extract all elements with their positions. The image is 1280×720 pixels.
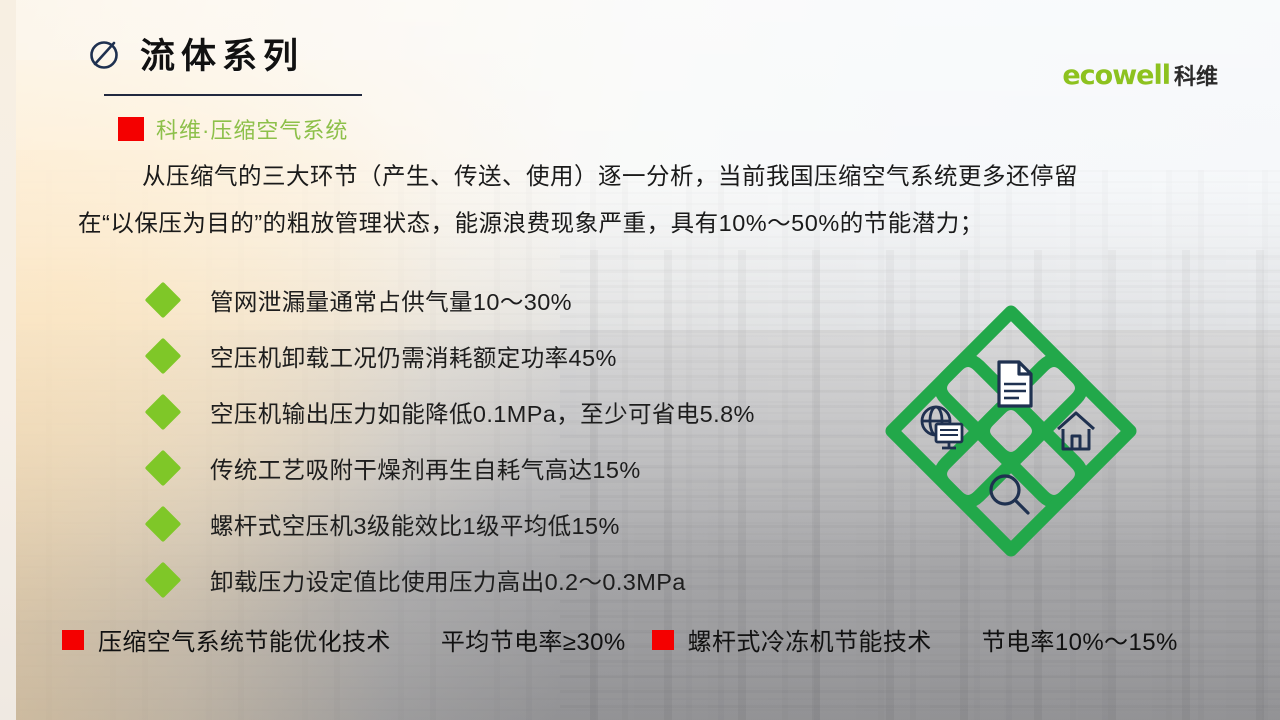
green-diamond-bullet-icon (145, 506, 182, 543)
list-item-label: 螺杆式空压机3级能效比1级平均低15% (210, 507, 620, 541)
list-item: 螺杆式空压机3级能效比1级平均低15% (150, 496, 755, 552)
slide-canvas: 流体系列 ecowell 科维 科维·压缩空气系统 从压缩气的三大环节（产生、传… (0, 0, 1280, 720)
logo-chinese-name: 科维 (1174, 65, 1218, 89)
bottom-item-1: 压缩空气系统节能优化技术 平均节电率≥30% (62, 622, 626, 657)
bottom-highlight-bar: 压缩空气系统节能优化技术 平均节电率≥30% 螺杆式冷冻机节能技术 节电率10%… (62, 622, 1178, 657)
green-diamond-bullet-icon (145, 338, 182, 375)
list-item-label: 空压机输出压力如能降低0.1MPa，至少可省电5.8% (210, 395, 755, 429)
section-heading: 科维·压缩空气系统 (118, 113, 348, 145)
list-item-label: 管网泄漏量通常占供气量10～30% (210, 283, 572, 317)
green-diamond-bullet-icon (145, 562, 182, 599)
background-left-strip (0, 0, 16, 720)
green-diamond-bullet-icon (145, 282, 182, 319)
paragraph-line-1: 从压缩气的三大环节（产生、传送、使用）逐一分析，当前我国压缩空气系统更多还停留 (78, 160, 1218, 193)
list-item: 空压机卸载工况仍需消耗额定功率45% (150, 328, 755, 384)
green-diamond-bullet-icon (145, 450, 182, 487)
bottom-item-value: 节电率10%～15% (982, 622, 1178, 657)
logo-wordmark: ecowell (1062, 62, 1170, 89)
red-square-bullet-icon (118, 117, 144, 141)
bottom-item-label: 压缩空气系统节能优化技术 (98, 622, 391, 657)
four-diamond-cluster-graphic (880, 300, 1142, 562)
slide-header: 流体系列 ecowell 科维 (0, 0, 1280, 104)
red-square-bullet-icon (652, 630, 674, 650)
section-title: 科维·压缩空气系统 (156, 113, 348, 145)
bottom-item-2: 螺杆式冷冻机节能技术 节电率10%～15% (652, 622, 1178, 657)
bottom-item-value: 平均节电率≥30% (441, 622, 626, 657)
page-title-row: 流体系列 (88, 28, 304, 79)
bottom-item-label: 螺杆式冷冻机节能技术 (688, 622, 932, 657)
paragraph-line-2: 在“以保压为目的”的粗放管理状态，能源浪费现象严重，具有10%～50%的节能潜力… (78, 207, 1218, 240)
list-item-label: 空压机卸载工况仍需消耗额定功率45% (210, 339, 617, 373)
green-diamond-bullet-icon (145, 394, 182, 431)
list-item: 传统工艺吸附干燥剂再生自耗气高达15% (150, 440, 755, 496)
document-icon (999, 362, 1031, 406)
list-item: 卸载压力设定值比使用压力高出0.2～0.3MPa (150, 552, 755, 608)
list-item-label: 传统工艺吸附干燥剂再生自耗气高达15% (210, 451, 641, 485)
page-title: 流体系列 (140, 28, 304, 79)
bullet-list: 管网泄漏量通常占供气量10～30% 空压机卸载工况仍需消耗额定功率45% 空压机… (150, 272, 755, 608)
list-item-label: 卸载压力设定值比使用压力高出0.2～0.3MPa (210, 563, 686, 597)
red-square-bullet-icon (62, 630, 84, 650)
diameter-slash-circle-icon (88, 37, 122, 71)
title-underline (104, 94, 362, 96)
list-item: 空压机输出压力如能降低0.1MPa，至少可省电5.8% (150, 384, 755, 440)
intro-paragraph: 从压缩气的三大环节（产生、传送、使用）逐一分析，当前我国压缩空气系统更多还停留 … (78, 160, 1218, 255)
brand-logo: ecowell 科维 (1062, 62, 1218, 89)
list-item: 管网泄漏量通常占供气量10～30% (150, 272, 755, 328)
